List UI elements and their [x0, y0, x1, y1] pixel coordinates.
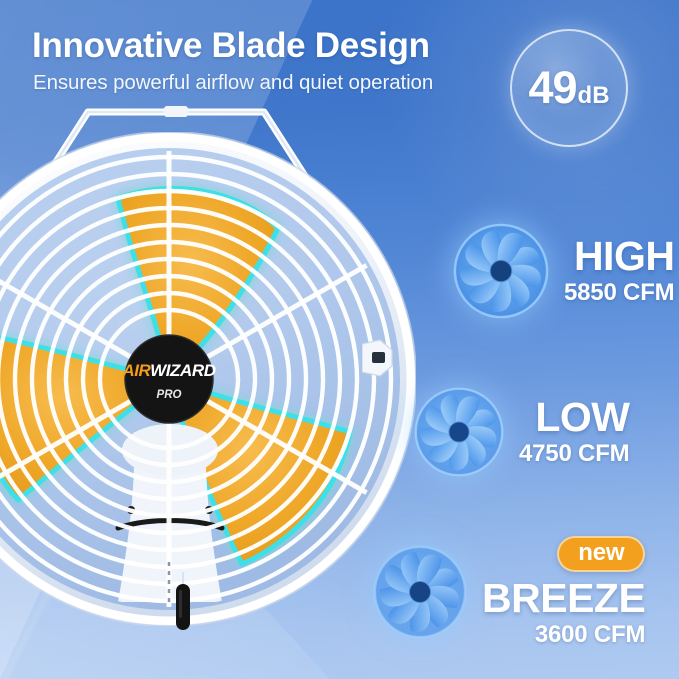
noise-level-value: 49 [528, 62, 576, 114]
noise-level-unit: dB [578, 82, 610, 110]
fan-speed-icon [413, 386, 505, 478]
speed-text-high: HIGH 5850 CFM [564, 236, 674, 305]
new-badge: new [557, 536, 645, 572]
page-subtitle: Ensures powerful airflow and quiet opera… [33, 71, 433, 95]
speed-name: BREEZE [482, 578, 645, 620]
speed-cfm: 4750 CFM [519, 442, 629, 466]
noise-level-value-group: 49 dB [528, 62, 609, 114]
fan-speed-icon [452, 222, 550, 320]
noise-level-badge: 49 dB [510, 29, 628, 147]
fan-speed-icon [372, 544, 468, 640]
speed-name: LOW [519, 397, 629, 439]
speed-cfm: 5850 CFM [564, 281, 674, 305]
page-title: Innovative Blade Design [32, 26, 430, 66]
speed-row-low: LOW 4750 CFM [413, 386, 629, 478]
fan-pull-cord-icon [175, 572, 191, 630]
brand-sub: PRO [157, 389, 182, 401]
svg-text:AIRWIZARD: AIRWIZARD [121, 361, 215, 380]
speed-text-breeze: new BREEZE 3600 CFM [482, 536, 645, 648]
speed-row-breeze: new BREEZE 3600 CFM [372, 536, 645, 648]
fan-grille-and-blades-icon: AIRWIZARD PRO [0, 132, 416, 626]
new-badge-holder: new [482, 536, 645, 578]
speed-cfm: 3600 CFM [482, 623, 645, 647]
speed-text-low: LOW 4750 CFM [519, 397, 629, 466]
brand-suffix: WIZARD [150, 361, 216, 380]
speed-row-high: HIGH 5850 CFM [452, 222, 674, 320]
speed-name: HIGH [564, 236, 674, 278]
product-feature-banner: Innovative Blade Design Ensures powerful… [0, 0, 679, 679]
brand-prefix: AIR [121, 361, 151, 380]
fan-mount-bracket-icon [362, 334, 396, 382]
